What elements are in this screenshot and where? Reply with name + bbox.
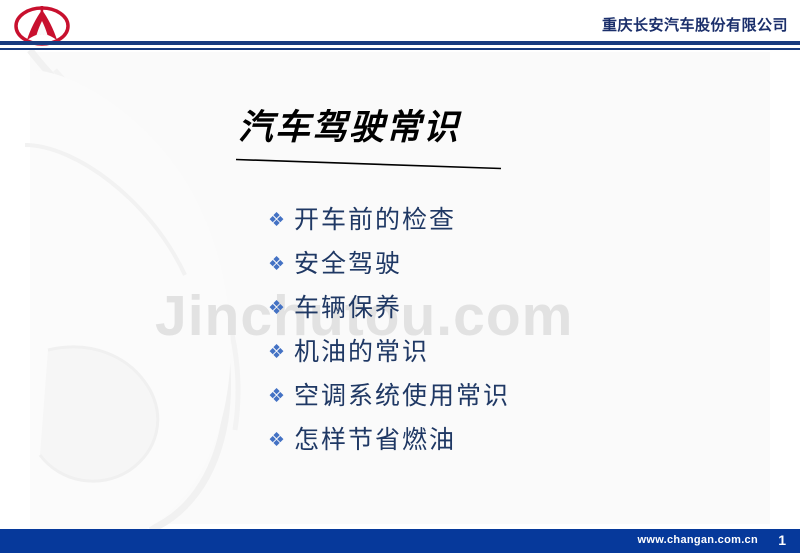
list-item-label: 安全驾驶 bbox=[294, 250, 402, 278]
page-title: 汽车驾驶常识 bbox=[238, 106, 508, 150]
list-item-label: 空调系统使用常识 bbox=[294, 382, 510, 410]
diamond-bullet-icon: ❖ bbox=[268, 343, 294, 362]
slide-header: 重庆长安汽车股份有限公司 bbox=[0, 0, 800, 52]
list-item[interactable]: ❖ 机油的常识 bbox=[268, 330, 688, 374]
list-item-label: 车辆保养 bbox=[294, 294, 402, 322]
title-block: 汽车驾驶常识 bbox=[238, 106, 508, 170]
diamond-bullet-icon: ❖ bbox=[268, 431, 294, 450]
agenda-list: ❖ 开车前的检查 ❖ 安全驾驶 ❖ 车辆保养 ❖ 机油的常识 ❖ 空调系统使用常… bbox=[268, 198, 688, 462]
page-number: 1 bbox=[778, 532, 786, 548]
footer-url[interactable]: www.changan.com.cn bbox=[637, 534, 758, 546]
list-item[interactable]: ❖ 怎样节省燃油 bbox=[268, 418, 688, 462]
list-item[interactable]: ❖ 开车前的检查 bbox=[268, 198, 688, 242]
presentation-slide: Jinchutou.com 重庆长安汽车股份有限公司 汽车驾驶常识 ❖ 开车前的… bbox=[0, 0, 800, 553]
list-item-label: 怎样节省燃油 bbox=[294, 426, 456, 454]
title-underline bbox=[236, 158, 501, 170]
header-rule-thin bbox=[0, 48, 800, 50]
list-item[interactable]: ❖ 车辆保养 bbox=[268, 286, 688, 330]
list-item-label: 机油的常识 bbox=[294, 338, 429, 366]
diamond-bullet-icon: ❖ bbox=[268, 211, 294, 230]
list-item[interactable]: ❖ 安全驾驶 bbox=[268, 242, 688, 286]
list-item-label: 开车前的检查 bbox=[294, 206, 456, 234]
diamond-bullet-icon: ❖ bbox=[268, 299, 294, 318]
list-item[interactable]: ❖ 空调系统使用常识 bbox=[268, 374, 688, 418]
header-rule-thick bbox=[0, 41, 800, 45]
company-name: 重庆长安汽车股份有限公司 bbox=[602, 14, 788, 35]
diamond-bullet-icon: ❖ bbox=[268, 255, 294, 274]
diamond-bullet-icon: ❖ bbox=[268, 387, 294, 406]
slide-footer: www.changan.com.cn 1 bbox=[0, 529, 800, 553]
